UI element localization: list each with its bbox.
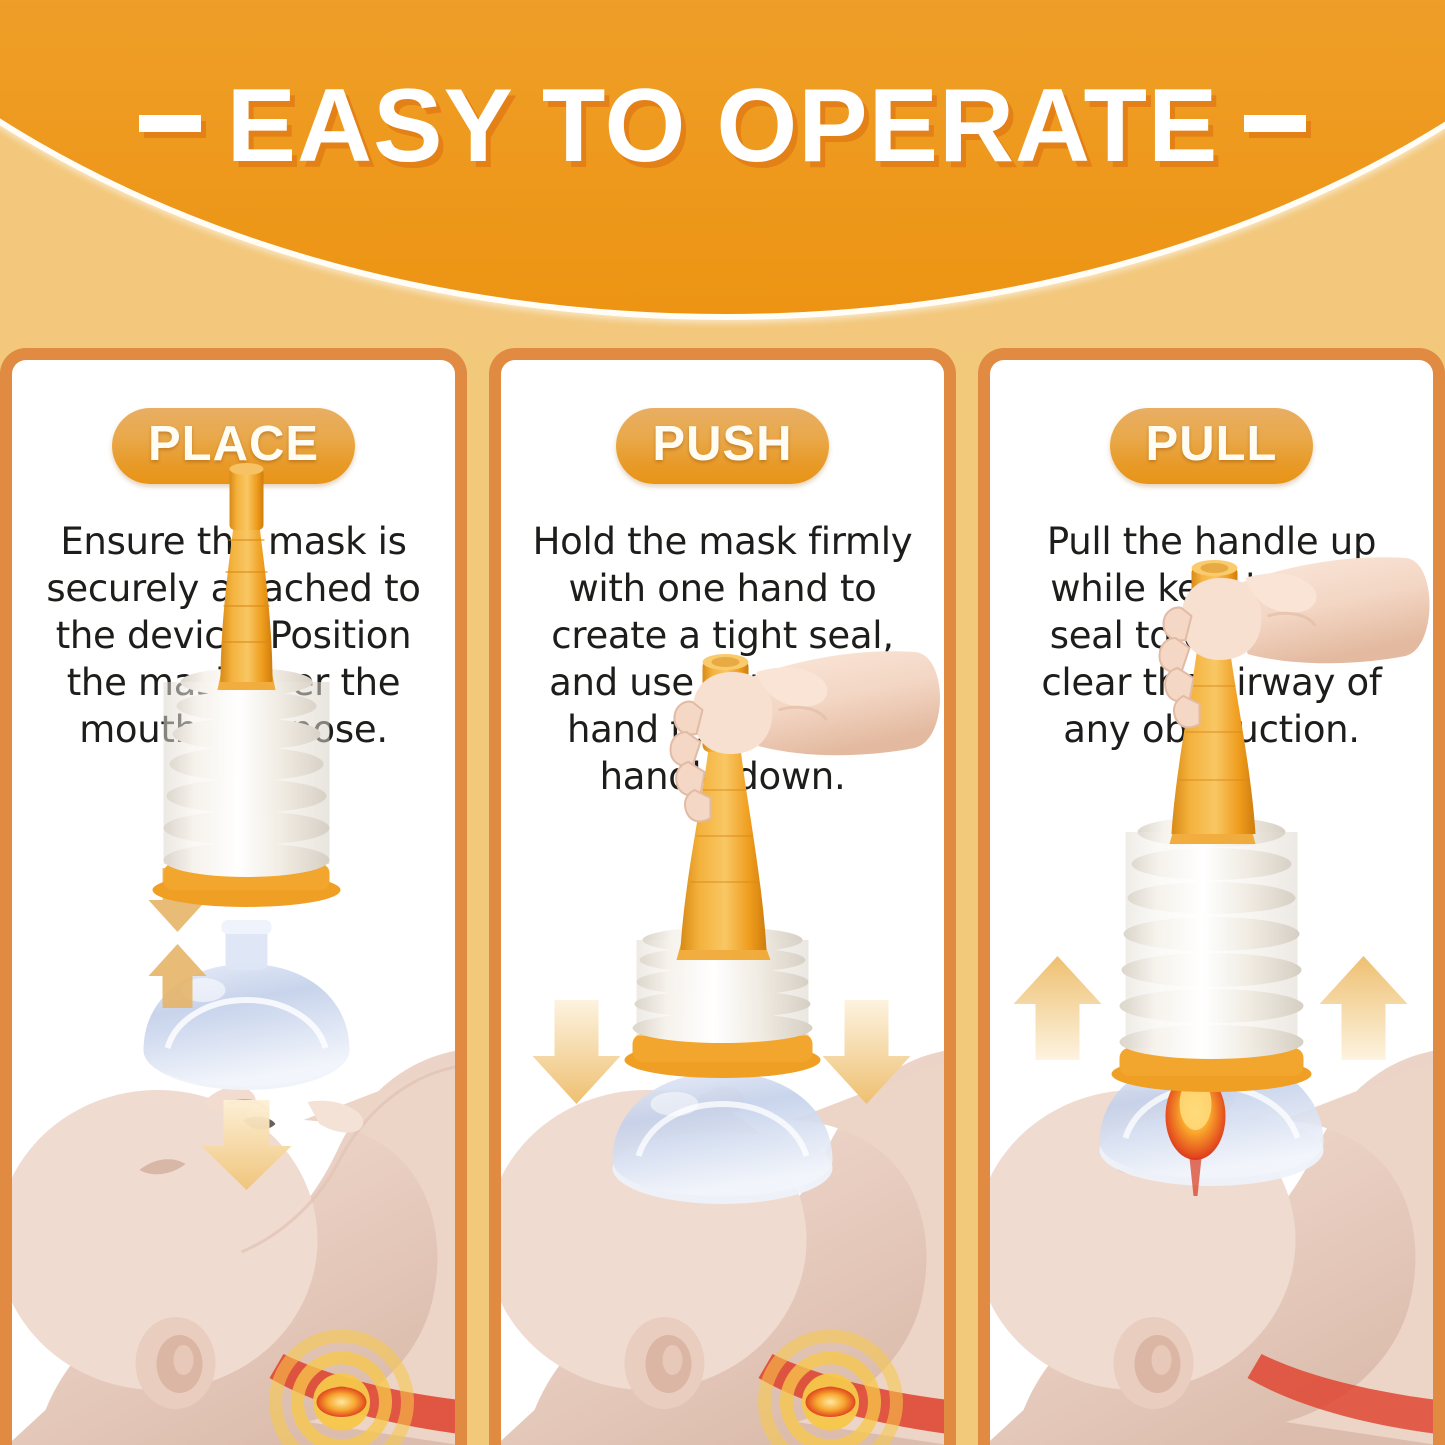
bellows-rings-push <box>633 927 813 1043</box>
airway-pulse-rings-place <box>270 1336 456 1445</box>
airway-pulse-rings-push <box>759 1336 945 1445</box>
step-description-pull: Pull the handle up while keeping the sea… <box>1010 518 1413 753</box>
step-label-wrap-place: PLACE <box>12 360 455 484</box>
step-description-push: Hold the mask firmly with one hand to cr… <box>521 518 924 800</box>
title-dash-left <box>139 115 201 132</box>
arrow-down-small-place <box>149 868 207 932</box>
step-label-place: PLACE <box>112 408 355 484</box>
arrow-up-right-pull <box>1320 956 1408 1060</box>
step-label-push: PUSH <box>616 408 828 484</box>
arrow-up-small-place <box>149 944 207 1008</box>
mask-part-place <box>144 920 350 1090</box>
suction-hot-spot-pull <box>1166 1072 1226 1196</box>
step-panel-place[interactable]: PLACE Ensure the mask is securely attach… <box>0 348 467 1445</box>
mannequin-head-place <box>12 1050 455 1445</box>
mask-part-pull <box>1100 1054 1324 1186</box>
mask-part-push <box>613 1072 833 1204</box>
airway-cleared-pull <box>1248 1354 1434 1434</box>
step-label-pull: PULL <box>1110 408 1314 484</box>
step-label-wrap-push: PUSH <box>501 360 944 484</box>
steps-row: PLACE Ensure the mask is securely attach… <box>0 348 1445 1445</box>
title-text: EASY TO OPERATE <box>227 68 1219 184</box>
step-description-place: Ensure the mask is securely attached to … <box>32 518 435 753</box>
page-title: EASY TO OPERATE <box>0 74 1445 178</box>
arrow-down-left-push <box>533 1000 621 1104</box>
arrow-up-left-pull <box>1014 956 1102 1060</box>
header-banner: EASY TO OPERATE <box>0 0 1445 348</box>
arrow-down-large-place <box>202 1100 292 1190</box>
step-panel-pull[interactable]: PULL Pull the handle up while keeping th… <box>978 348 1445 1445</box>
poster: EASY TO OPERATE PLACE Ensure the mask is… <box>0 0 1445 1445</box>
bellows-rings-pull <box>1120 817 1304 1059</box>
title-dash-right <box>1244 115 1306 132</box>
mannequin-head-pull <box>990 1050 1433 1445</box>
mannequin-head-push <box>501 1050 944 1445</box>
step-panel-push[interactable]: PUSH Hold the mask firmly with one hand … <box>489 348 956 1445</box>
step-label-wrap-pull: PULL <box>990 360 1433 484</box>
arrow-down-right-push <box>823 1000 911 1104</box>
